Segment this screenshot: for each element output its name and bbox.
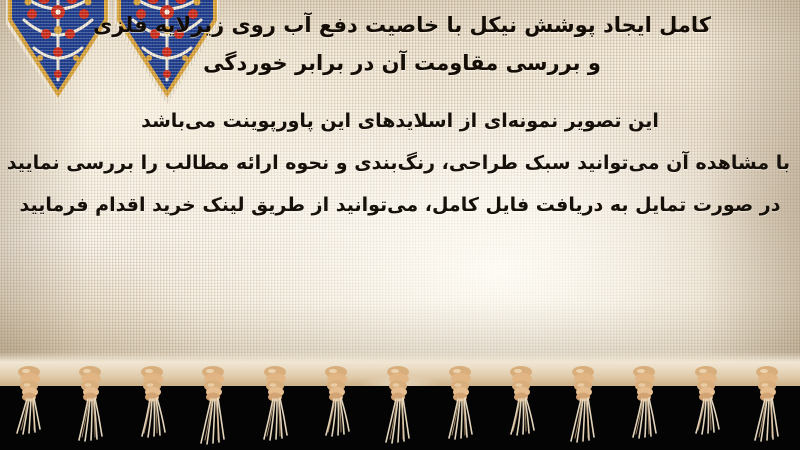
body-line-3: در صورت تمایل به دریافت فایل کامل، می‌تو… xyxy=(10,188,790,222)
carpet-fringe-icon xyxy=(0,352,800,450)
fringe-tassel xyxy=(557,366,613,450)
fringe-tassel xyxy=(434,366,490,450)
slide-body: این تصویر نمونه‌ای از اسلایدهای این پاور… xyxy=(10,104,790,222)
fringe-tassel xyxy=(126,366,182,450)
fringe-tassel xyxy=(310,366,366,450)
slide-canvas: کامل ایجاد پوشش نیکل با خاصیت دفع آب روی… xyxy=(0,0,800,450)
slide-text-layer: کامل ایجاد پوشش نیکل با خاصیت دفع آب روی… xyxy=(0,0,800,378)
title-line-2: و بررسی مقاومت آن در برابر خوردگی xyxy=(16,44,788,82)
fringe-tassel xyxy=(64,366,120,450)
body-line-1: این تصویر نمونه‌ای از اسلایدهای این پاور… xyxy=(10,104,790,138)
fringe-tassel xyxy=(187,366,243,450)
slide-title: کامل ایجاد پوشش نیکل با خاصیت دفع آب روی… xyxy=(16,6,788,82)
fringe-tassel xyxy=(741,366,797,450)
fringe-tassel xyxy=(249,366,305,450)
body-line-2: با مشاهده آن می‌توانید سبک طراحی، رنگ‌بن… xyxy=(10,146,790,180)
fringe-tassel xyxy=(618,366,674,450)
fringe-tassel xyxy=(372,366,428,450)
title-line-1: کامل ایجاد پوشش نیکل با خاصیت دفع آب روی… xyxy=(16,6,788,44)
fringe-tassel xyxy=(680,366,736,450)
fringe-tassel xyxy=(495,366,551,450)
fringe-tassel xyxy=(3,366,59,450)
